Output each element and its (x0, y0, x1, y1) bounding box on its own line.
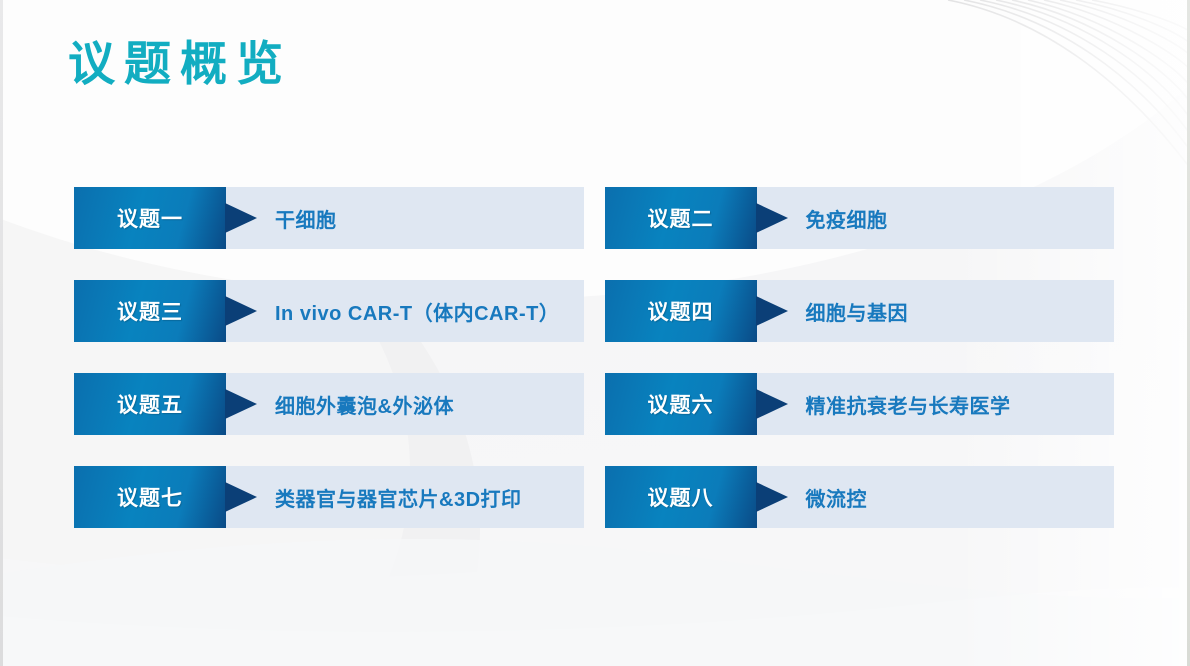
topic-row: 议题三 In vivo CAR-T（体内CAR-T） 议题四 (74, 280, 1114, 342)
topic-title-6: 精准抗衰老与长寿医学 (792, 390, 1115, 419)
topic-row: 议题五 细胞外囊泡&外泌体 议题六 精准抗衰老与长寿 (74, 373, 1114, 435)
topic-title-4: 细胞与基因 (792, 297, 1115, 326)
topic-card-5[interactable]: 议题五 细胞外囊泡&外泌体 (74, 373, 584, 435)
topic-tag-label: 议题四 (648, 296, 714, 326)
topic-card-7[interactable]: 议题七 类器官与器官芯片&3D打印 (74, 466, 584, 528)
topic-tag-2: 议题二 (605, 187, 757, 249)
arrow-right-icon (225, 373, 261, 435)
arrow-right-icon (225, 187, 261, 249)
topic-tag-label: 议题二 (648, 203, 714, 233)
topic-grid: 议题一 干细胞 议题二 免疫细胞 (74, 187, 1114, 528)
topic-card-3[interactable]: 议题三 In vivo CAR-T（体内CAR-T） (74, 280, 584, 342)
background-edge-left (0, 0, 3, 666)
arrow-right-icon (225, 280, 261, 342)
topic-tag-3: 议题三 (74, 280, 226, 342)
topic-tag-5: 议题五 (74, 373, 226, 435)
topic-title-3: In vivo CAR-T（体内CAR-T） (261, 297, 584, 326)
topic-tag-label: 议题八 (648, 482, 714, 512)
topic-tag-label: 议题一 (117, 203, 183, 233)
topic-tag-1: 议题一 (74, 187, 226, 249)
topic-card-2[interactable]: 议题二 免疫细胞 (605, 187, 1115, 249)
topic-tag-8: 议题八 (605, 466, 757, 528)
arrow-right-icon (756, 373, 792, 435)
topic-title-7: 类器官与器官芯片&3D打印 (261, 483, 584, 512)
topic-tag-label: 议题七 (117, 482, 183, 512)
topic-title-8: 微流控 (792, 483, 1115, 512)
topic-title-2: 免疫细胞 (792, 204, 1115, 233)
arrow-right-icon (225, 466, 261, 528)
arrow-right-icon (756, 466, 792, 528)
topic-title-5: 细胞外囊泡&外泌体 (261, 390, 584, 419)
topic-card-8[interactable]: 议题八 微流控 (605, 466, 1115, 528)
topic-card-4[interactable]: 议题四 细胞与基因 (605, 280, 1115, 342)
topic-tag-4: 议题四 (605, 280, 757, 342)
topic-row: 议题一 干细胞 议题二 免疫细胞 (74, 187, 1114, 249)
topic-card-1[interactable]: 议题一 干细胞 (74, 187, 584, 249)
topic-tag-6: 议题六 (605, 373, 757, 435)
topic-card-6[interactable]: 议题六 精准抗衰老与长寿医学 (605, 373, 1115, 435)
topic-row: 议题七 类器官与器官芯片&3D打印 议题八 微流控 (74, 466, 1114, 528)
topic-tag-label: 议题三 (117, 296, 183, 326)
topic-tag-label: 议题六 (648, 389, 714, 419)
arrow-right-icon (756, 187, 792, 249)
slide-topic-overview: 议题概览 议题一 干细胞 议题二 (0, 0, 1190, 666)
topic-tag-7: 议题七 (74, 466, 226, 528)
topic-tag-label: 议题五 (117, 389, 183, 419)
page-title: 议题概览 (68, 36, 292, 92)
topic-title-1: 干细胞 (261, 204, 584, 233)
arrow-right-icon (756, 280, 792, 342)
